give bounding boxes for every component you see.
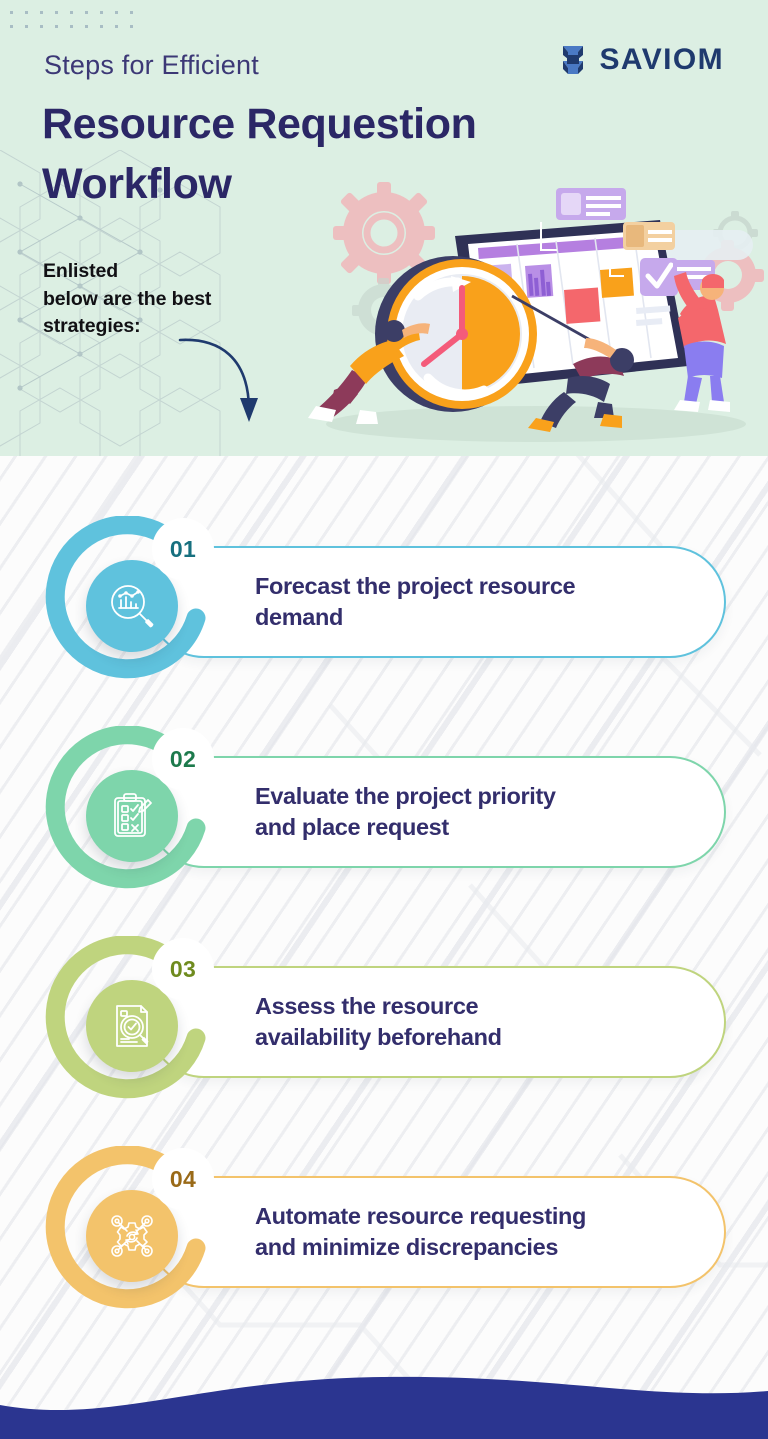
header-subtext-line-2: below are the best bbox=[43, 288, 211, 310]
step-number-03: 03 bbox=[170, 956, 196, 983]
curved-arrow-down-icon bbox=[178, 330, 268, 430]
gear-automation-network-icon bbox=[107, 1211, 157, 1261]
header-subtext-line-1: Enlisted bbox=[43, 260, 118, 282]
step-text-card-01[interactable]: Forecast the project resource demand bbox=[148, 546, 726, 658]
header-banner: Steps for Efficient Resource Requestion … bbox=[0, 0, 768, 456]
header-kicker: Steps for Efficient bbox=[44, 50, 259, 81]
step-text-02-line-2: and place request bbox=[255, 814, 449, 840]
step-text-01: Forecast the project resource demand bbox=[255, 571, 575, 632]
step-text-03-line-1: Assess the resource bbox=[255, 993, 478, 1019]
magnifier-bar-chart-icon bbox=[107, 581, 157, 631]
step-text-card-02[interactable]: Evaluate the project priority and place … bbox=[148, 756, 726, 868]
step-text-04-line-1: Automate resource requesting bbox=[255, 1203, 586, 1229]
step-text-card-03[interactable]: Assess the resource availability beforeh… bbox=[148, 966, 726, 1078]
step-number-badge-04: 04 bbox=[152, 1148, 214, 1210]
infographic-page: Steps for Efficient Resource Requestion … bbox=[0, 0, 768, 1439]
step-number-04: 04 bbox=[170, 1166, 196, 1193]
step-number-badge-01: 01 bbox=[152, 518, 214, 580]
brand-logo[interactable]: SAVIOM bbox=[558, 42, 724, 78]
step-item-02: Evaluate the project priority and place … bbox=[0, 722, 768, 902]
footer-wave-decoration bbox=[0, 1329, 768, 1439]
step-number-badge-03: 03 bbox=[152, 938, 214, 1000]
step-text-03: Assess the resource availability beforeh… bbox=[255, 991, 502, 1052]
step-text-02: Evaluate the project priority and place … bbox=[255, 781, 556, 842]
dot-grid-decoration bbox=[8, 8, 138, 32]
header-subtext-line-3: strategies: bbox=[43, 315, 141, 337]
step-text-02-line-1: Evaluate the project priority bbox=[255, 783, 556, 809]
steps-list: Forecast the project resource demand bbox=[0, 455, 768, 1352]
step-number-01: 01 bbox=[170, 536, 196, 563]
brand-name: SAVIOM bbox=[599, 43, 724, 77]
step-text-04: Automate resource requesting and minimiz… bbox=[255, 1201, 586, 1262]
step-text-01-line-2: demand bbox=[255, 604, 343, 630]
header-subtext: Enlisted below are the best strategies: bbox=[43, 258, 278, 341]
step-text-03-line-2: availability beforehand bbox=[255, 1024, 502, 1050]
page-title-line-1: Resource Requestion bbox=[42, 94, 562, 154]
saviom-s-logo-icon bbox=[558, 42, 588, 78]
step-number-02: 02 bbox=[170, 746, 196, 773]
step-number-badge-02: 02 bbox=[152, 728, 214, 790]
document-magnifier-check-icon bbox=[107, 1001, 157, 1051]
step-text-01-line-1: Forecast the project resource bbox=[255, 573, 575, 599]
step-item-03: Assess the resource availability beforeh… bbox=[0, 932, 768, 1112]
step-text-04-line-2: and minimize discrepancies bbox=[255, 1234, 558, 1260]
step-text-card-04[interactable]: Automate resource requesting and minimiz… bbox=[148, 1176, 726, 1288]
step-item-04: Automate resource requesting and minimiz… bbox=[0, 1142, 768, 1322]
team-pushing-clock-and-kanban-board-illustration bbox=[288, 178, 768, 456]
step-item-01: Forecast the project resource demand bbox=[0, 512, 768, 692]
clipboard-checklist-pen-icon bbox=[107, 791, 157, 841]
